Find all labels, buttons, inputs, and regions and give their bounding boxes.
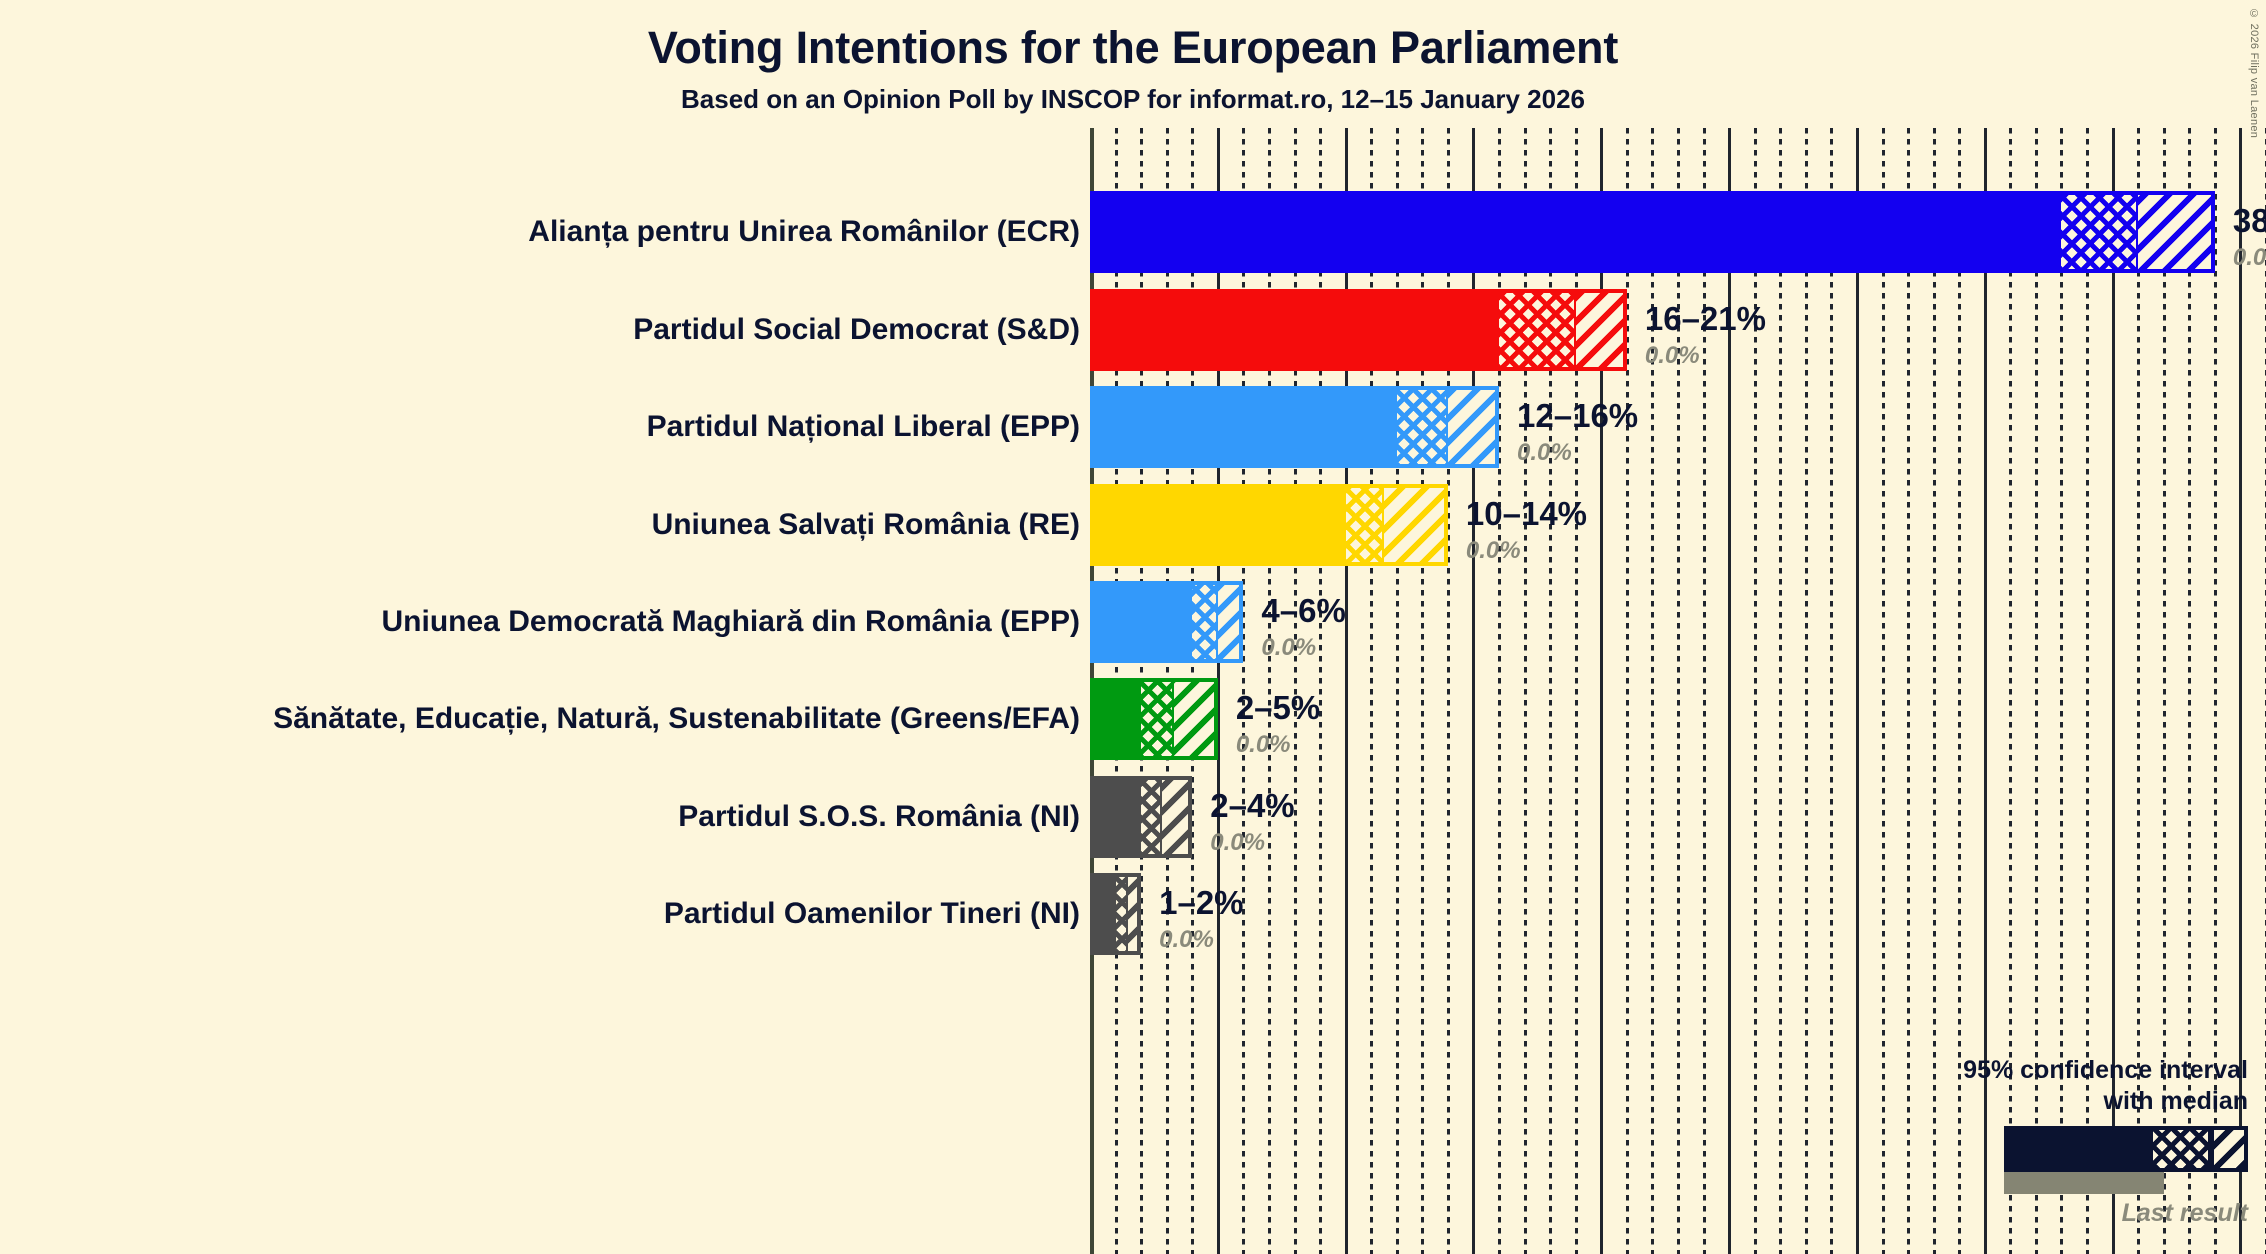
bar-outline: [1090, 484, 1448, 566]
category-label: Partidul S.O.S. România (NI): [20, 776, 1080, 858]
legend-crosshatch-segment: [2153, 1130, 2208, 1168]
chart-subtitle: Based on an Opinion Poll by INSCOP for i…: [0, 84, 2266, 115]
bar-lastresult-label: 0.0%: [1261, 636, 1316, 660]
legend-line-2: with median: [1828, 1086, 2248, 1117]
bar-outline: [1090, 191, 2215, 273]
bar-lastresult-label: 0.0%: [1517, 441, 1572, 465]
category-label: Partidul Oamenilor Tineri (NI): [20, 873, 1080, 955]
bar-value-label: 2–4%: [1210, 789, 1294, 822]
legend-lastresult-swatch: [2004, 1172, 2164, 1194]
category-label: Uniunea Salvați România (RE): [20, 484, 1080, 566]
bar-value-label: 16–21%: [1645, 302, 1766, 335]
legend-lastresult-label: Last result: [1828, 1198, 2248, 1228]
bar-outline: [1090, 581, 1243, 663]
category-label: Sănătate, Educație, Natură, Sustenabilit…: [20, 678, 1080, 760]
bar-lastresult-label: 0.0%: [1159, 928, 1214, 952]
bar-lastresult-label: 0.0%: [2233, 246, 2266, 270]
bar-outline: [1090, 289, 1627, 371]
bar-lastresult-label: 0.0%: [1236, 733, 1291, 757]
legend-lastresult-wrap: [1828, 1172, 2248, 1194]
page-title: Voting Intentions for the European Parli…: [0, 22, 2266, 74]
bar-value-label: 12–16%: [1517, 399, 1638, 432]
legend-line-1: 95% confidence interval: [1828, 1055, 2248, 1086]
bar-row[interactable]: [1090, 386, 2266, 468]
legend-median-marker: [2209, 1130, 2213, 1168]
bar-lastresult-label: 0.0%: [1645, 344, 1700, 368]
legend: 95% confidence interval with median Last…: [1828, 1055, 2248, 1228]
bar-row[interactable]: [1090, 873, 2266, 955]
category-label: Alianța pentru Unirea Românilor (ECR): [20, 191, 1080, 273]
category-label: Uniunea Democrată Maghiară din România (…: [20, 581, 1080, 663]
category-label: Partidul Național Liberal (EPP): [20, 386, 1080, 468]
bar-outline: [1090, 386, 1499, 468]
bar-value-label: 38–44%: [2233, 204, 2266, 237]
category-label: Partidul Social Democrat (S&D): [20, 289, 1080, 371]
legend-ci-swatch: [2004, 1126, 2248, 1172]
bar-value-label: 2–5%: [1236, 691, 1320, 724]
legend-swatch-wrap: [1828, 1126, 2248, 1172]
chart-page: Voting Intentions for the European Parli…: [0, 0, 2266, 1254]
bar-row[interactable]: [1090, 484, 2266, 566]
copyright-notice: © 2026 Filip van Laenen: [2248, 8, 2260, 138]
bar-outline: [1090, 776, 1192, 858]
bar-outline: [1090, 873, 1141, 955]
bar-value-label: 4–6%: [1261, 594, 1345, 627]
bar-outline: [1090, 678, 1218, 760]
bar-row[interactable]: [1090, 191, 2266, 273]
bar-lastresult-label: 0.0%: [1466, 539, 1521, 563]
bar-value-label: 1–2%: [1159, 886, 1243, 919]
bar-value-label: 10–14%: [1466, 497, 1587, 530]
legend-diagonal-segment: [2214, 1130, 2244, 1168]
bar-lastresult-label: 0.0%: [1210, 831, 1265, 855]
